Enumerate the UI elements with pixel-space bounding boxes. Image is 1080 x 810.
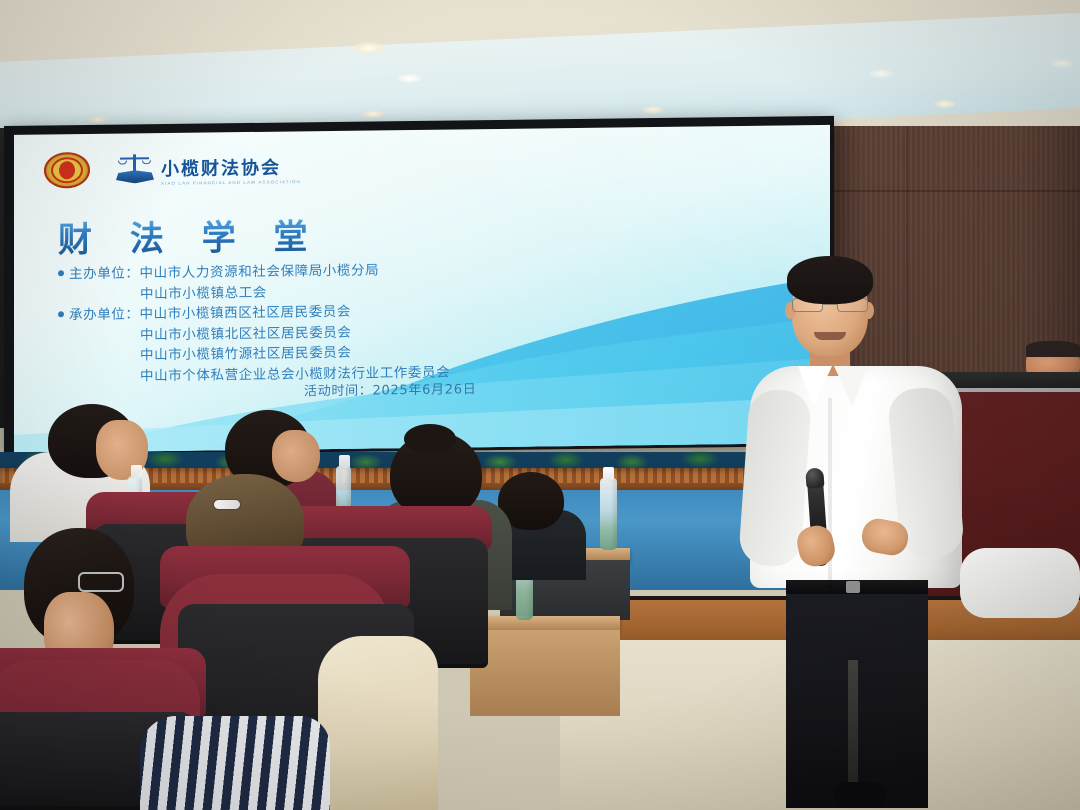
attendee-striped-shirt xyxy=(140,716,330,810)
bullet-text: 中山市小榄镇总工会 xyxy=(140,282,267,304)
scales-of-justice-icon xyxy=(116,152,154,186)
bullet-label: 主办单位： xyxy=(69,263,140,284)
attendee-body xyxy=(318,636,438,810)
association-logo: 小榄财法协会 XIAO LAN FINANCIAL AND LAW ASSOCI… xyxy=(116,150,301,186)
ceiling-downlight-icon xyxy=(642,106,664,114)
association-name: 小榄财法协会 xyxy=(161,159,301,179)
bullet-text: 中山市小榄镇竹源社区居民委员会 xyxy=(140,343,352,366)
ceiling-downlight-icon xyxy=(352,42,386,55)
slide-logo-row: 小榄财法协会 XIAO LAN FINANCIAL AND LAW ASSOCI… xyxy=(44,149,301,188)
belt-buckle xyxy=(846,581,860,593)
photo-scene: 小榄财法协会 XIAO LAN FINANCIAL AND LAW ASSOCI… xyxy=(0,0,1080,810)
ceiling-downlight-icon xyxy=(1051,59,1073,68)
presenter-shoe xyxy=(834,782,886,808)
hair-clip-icon xyxy=(214,500,240,509)
desk-front-panel xyxy=(470,630,620,716)
attendee-arm xyxy=(960,548,1080,618)
attendee-face xyxy=(272,430,320,482)
bullet-dot-icon xyxy=(58,270,64,276)
presenter-mouth xyxy=(814,332,846,340)
ceiling-downlight-icon xyxy=(398,74,421,83)
bullet-text: 中山市人力资源和社会保障局小榄分局 xyxy=(140,260,380,283)
water-bottle xyxy=(600,478,617,550)
bullet-label: 承办单位： xyxy=(69,304,140,325)
ceiling-downlight-icon xyxy=(362,110,384,118)
association-subtitle: XIAO LAN FINANCIAL AND LAW ASSOCIATION xyxy=(161,180,301,186)
presenter xyxy=(742,258,972,810)
bullet-dot-icon xyxy=(58,311,64,317)
ceiling-downlight-icon xyxy=(869,69,893,78)
projection-screen: 小榄财法协会 XIAO LAN FINANCIAL AND LAW ASSOCI… xyxy=(4,116,834,456)
projection-screen-surface: 小榄财法协会 XIAO LAN FINANCIAL AND LAW ASSOCI… xyxy=(14,125,830,453)
presenter-hair xyxy=(787,256,873,304)
slide-content: 小榄财法协会 XIAO LAN FINANCIAL AND LAW ASSOCI… xyxy=(14,125,830,453)
bullet-text: 中山市小榄镇西区社区居民委员会 xyxy=(140,302,352,325)
slide-date-line: 活动时间：2025年6月26日 xyxy=(304,378,476,399)
bullet-text: 中山市小榄镇北区社区居民委员会 xyxy=(140,322,352,345)
wall-seam xyxy=(820,190,1080,192)
ceiling-downlight-icon xyxy=(934,100,956,108)
glasses-icon xyxy=(78,572,124,592)
attendee-hair-bun xyxy=(404,424,456,454)
slide-title: 财 法 学 堂 xyxy=(58,209,321,261)
ceiling-downlight-icon xyxy=(88,116,108,124)
oval-emblem-icon xyxy=(44,152,90,189)
slide-bullets: 主办单位： 中山市人力资源和社会保障局小榄分局 中山市小榄镇总工会 承办单位： … xyxy=(58,257,618,387)
